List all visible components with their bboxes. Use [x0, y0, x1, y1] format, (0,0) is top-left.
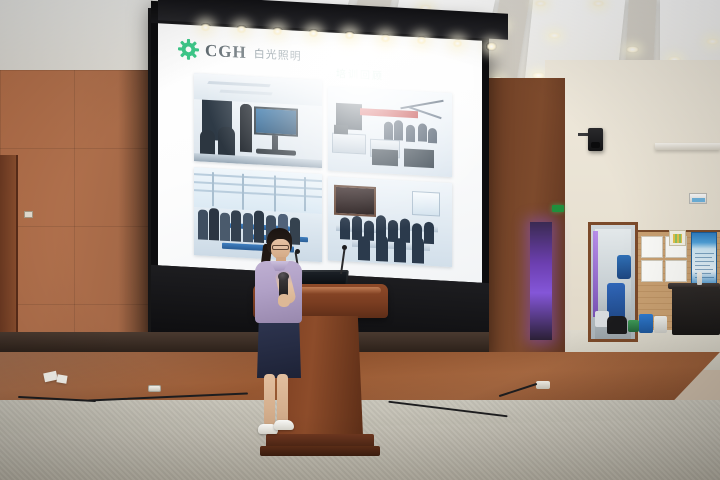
photo-training-class: [328, 176, 452, 267]
track-spot-light: [272, 27, 283, 36]
stage-floor-outlet[interactable]: [148, 385, 161, 392]
doorway-light-strip: [593, 231, 598, 317]
bottle: [697, 272, 702, 285]
conference-hall-photo: CGH 白光照明 培训回顾: [0, 0, 720, 480]
blue-info-poster: [691, 232, 717, 287]
microphone-head-icon: [278, 272, 289, 281]
logo-chinese-text: 白光照明: [254, 45, 302, 64]
slide-title: 培训回顾: [336, 65, 384, 83]
track-spot-light: [344, 31, 355, 40]
exit-sign: [552, 205, 564, 212]
color-notice: [669, 230, 686, 246]
slide-logo: CGH 白光照明: [178, 38, 302, 66]
ceiling-downlight: [592, 0, 605, 7]
presentation-slide: CGH 白光照明 培训回顾: [158, 23, 482, 283]
track-spot-light: [416, 36, 427, 45]
photo-meeting-room: [194, 73, 322, 168]
presenter-leg: [277, 374, 288, 426]
track-spot-light: [486, 42, 497, 51]
ceiling-downlight: [534, 0, 547, 7]
ceiling-downlight: [548, 32, 561, 39]
logo-text: CGH: [205, 40, 247, 62]
green-bucket: [628, 320, 639, 332]
presenter-skirt: [257, 320, 301, 378]
photo-exhibition: [328, 86, 452, 177]
doorway-purple-light: [530, 222, 552, 340]
track-spot-light: [452, 39, 463, 48]
blue-trash-bin: [639, 314, 653, 333]
dark-bag: [607, 316, 627, 334]
dark-counter: [672, 287, 720, 335]
slide-photo-grid: [194, 73, 452, 269]
ceiling-downlight: [626, 46, 639, 53]
wall-speaker: [588, 128, 603, 151]
floor-plug[interactable]: [536, 381, 550, 389]
wall-shelf: [655, 143, 720, 150]
track-spot-light: [380, 34, 391, 43]
wall-mounted-box: [689, 193, 707, 204]
paper-on-floor: [56, 374, 67, 383]
right-brown-wall-panel: [487, 78, 565, 363]
track-spot-light: [236, 25, 247, 34]
presenter-shoe: [274, 420, 294, 430]
glasses-icon: [272, 245, 289, 250]
gooseneck-microphone-head: [342, 245, 347, 250]
blue-chair: [617, 255, 631, 279]
presenter-hand: [278, 294, 290, 307]
presenter: [248, 228, 312, 443]
white-trash-bin: [654, 316, 667, 333]
track-spot-light: [308, 29, 319, 38]
track-spot-light: [200, 23, 211, 32]
flower-gear-icon: [178, 38, 199, 60]
ceiling-downlight: [706, 38, 719, 45]
wall-switch[interactable]: [24, 211, 33, 218]
presenter-leg: [264, 374, 275, 426]
podium-base-plinth: [260, 446, 380, 456]
notice-board: [641, 230, 720, 290]
